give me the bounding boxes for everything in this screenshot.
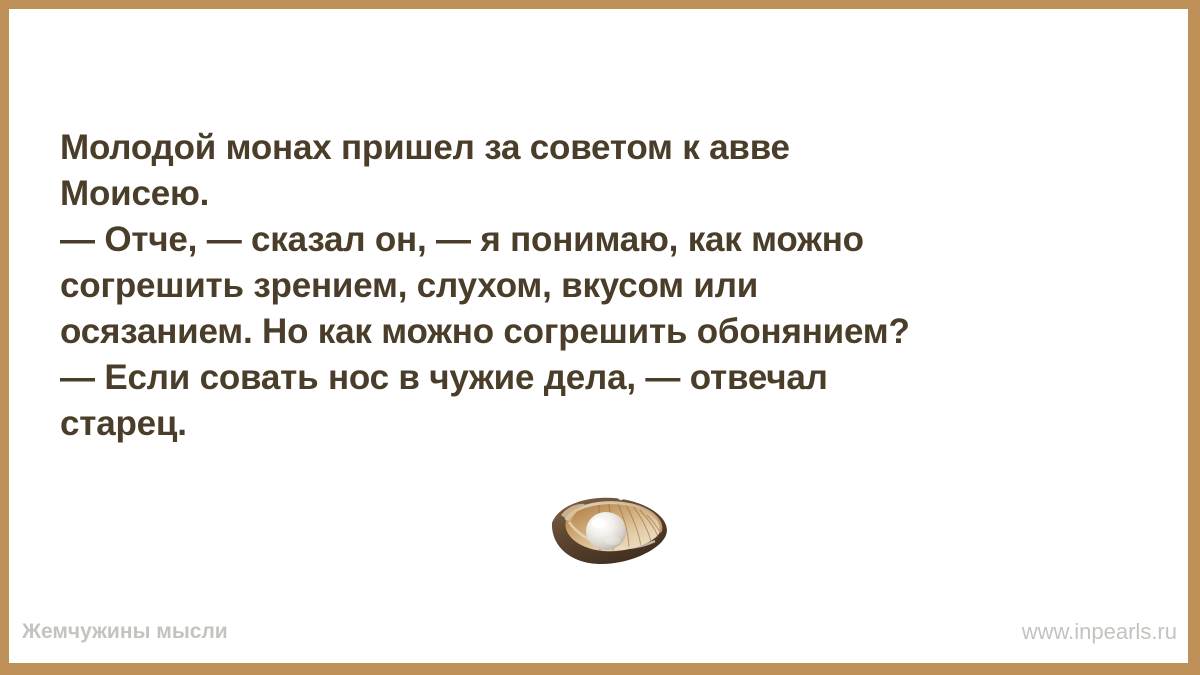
quote-line: Молодой монах пришел за советом к авве <box>60 125 1170 171</box>
quote-line: Моисею. <box>60 171 1170 217</box>
oyster-shell-with-pearl-icon <box>543 489 675 569</box>
quote-line: согрешить зрением, слухом, вкусом или <box>60 263 1170 309</box>
quote-line: старец. <box>60 401 1170 447</box>
brand-label: Жемчужины мысли <box>22 617 228 647</box>
quote-line: осязанием. Но как можно согрешить обонян… <box>60 309 1170 355</box>
quote-line: — Если совать нос в чужие дела, — отвеча… <box>60 355 1170 401</box>
website-url[interactable]: www.inpearls.ru <box>1022 617 1177 647</box>
quote-text-block: Молодой монах пришел за советом к авве М… <box>60 125 1170 447</box>
quote-line: — Отче, — сказал он, — я понимаю, как мо… <box>60 217 1170 263</box>
quote-card: Молодой монах пришел за советом к авве М… <box>0 0 1200 675</box>
footer-bar: Жемчужины мысли www.inpearls.ru <box>9 617 1188 647</box>
